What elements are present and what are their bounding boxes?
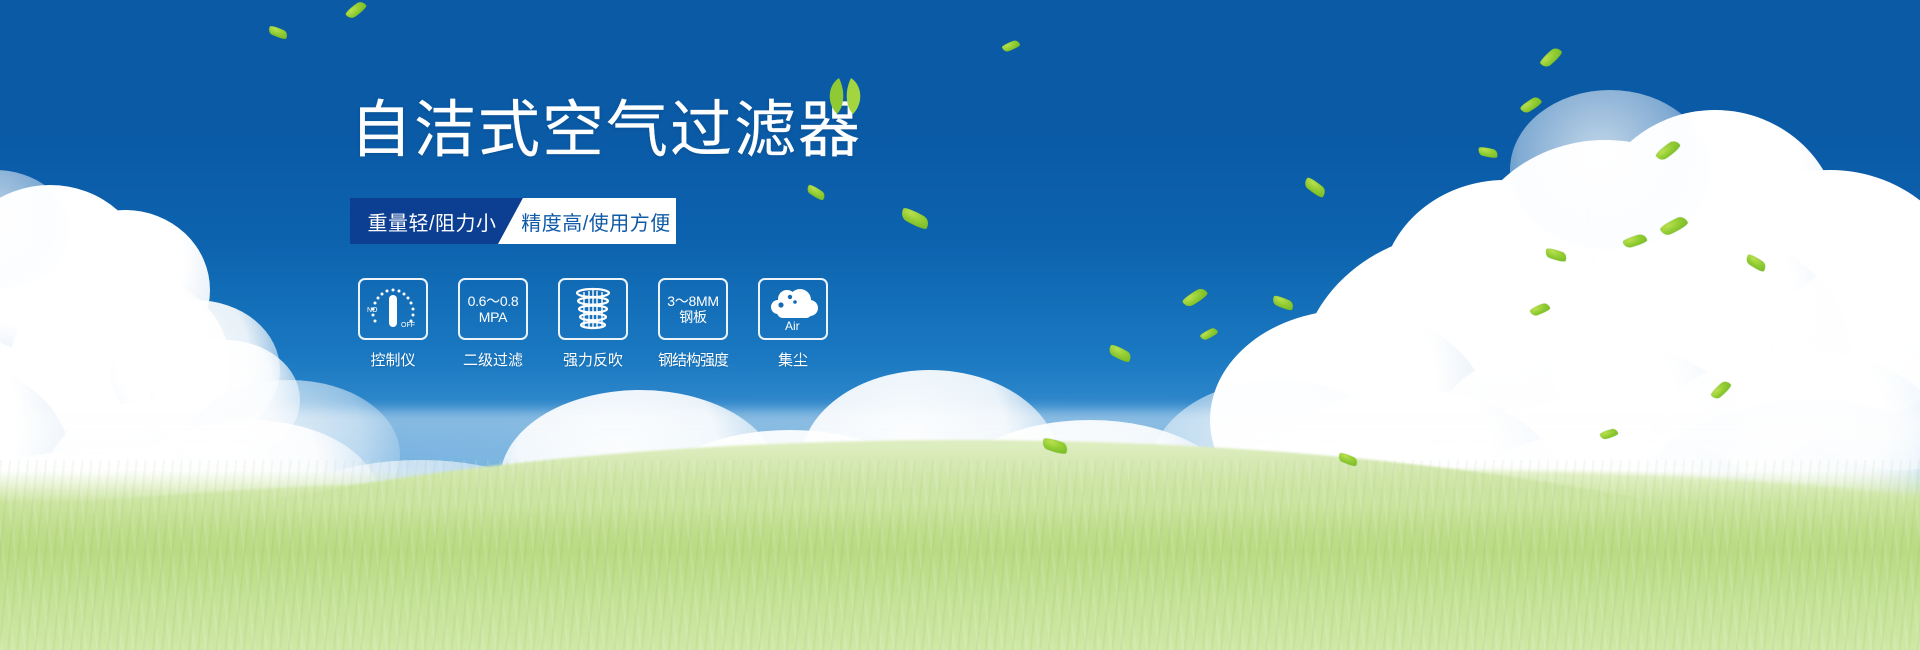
feature-box-backblow xyxy=(558,278,628,340)
gauge-on-label: NO xyxy=(367,307,378,314)
feature-label-filtration: 二级过滤 xyxy=(458,349,528,370)
feature-label-backblow: 强力反吹 xyxy=(558,349,628,370)
badge-right: 精度高/使用方便 xyxy=(498,198,676,244)
air-label: Air xyxy=(785,319,800,333)
promo-banner: 自洁式空气过滤器 重量轻/阻力小 精度高/使用方便 xyxy=(0,0,1920,650)
pressure-icon: 0.6〜0.8 MPA xyxy=(468,293,519,325)
feature-icon-row: NO OFF 控制仪 0.6〜0.8 MPA 二级过滤 xyxy=(358,278,1050,370)
grass-field xyxy=(0,350,1920,650)
feature-box-controller: NO OFF xyxy=(358,278,428,340)
feature-label-steel: 钢结构强度 xyxy=(658,349,728,370)
feature-label-dust: 集尘 xyxy=(758,349,828,370)
filter-coil-icon xyxy=(569,286,617,332)
feature-item-dust[interactable]: Air 集尘 xyxy=(758,278,828,370)
feature-box-filtration: 0.6〜0.8 MPA xyxy=(458,278,528,340)
feature-item-filtration[interactable]: 0.6〜0.8 MPA 二级过滤 xyxy=(458,278,528,370)
gauge-off-label: OFF xyxy=(401,322,415,329)
pressure-value: 0.6〜0.8 xyxy=(468,293,519,309)
steel-plate-icon: 3〜8MM 钢板 xyxy=(667,293,718,325)
feature-label-controller: 控制仪 xyxy=(358,349,428,370)
feature-box-dust: Air xyxy=(758,278,828,340)
air-cloud-icon: Air xyxy=(764,285,822,333)
page-title: 自洁式空气过滤器 xyxy=(350,100,1050,162)
feature-item-controller[interactable]: NO OFF 控制仪 xyxy=(358,278,428,370)
feature-box-steel: 3〜8MM 钢板 xyxy=(658,278,728,340)
steel-material: 钢板 xyxy=(667,309,718,325)
feature-item-backblow[interactable]: 强力反吹 xyxy=(558,278,628,370)
steel-thickness: 3〜8MM xyxy=(667,293,718,309)
feature-badge-bar: 重量轻/阻力小 精度高/使用方便 xyxy=(350,198,676,244)
gauge-icon: NO OFF xyxy=(365,285,421,333)
title-row: 自洁式空气过滤器 xyxy=(350,100,1050,178)
grass-haze xyxy=(0,410,1920,530)
title-leaves-icon xyxy=(815,76,875,116)
banner-content: 自洁式空气过滤器 重量轻/阻力小 精度高/使用方便 xyxy=(350,100,1050,370)
pressure-unit: MPA xyxy=(468,309,519,325)
feature-item-steel[interactable]: 3〜8MM 钢板 钢结构强度 xyxy=(658,278,728,370)
